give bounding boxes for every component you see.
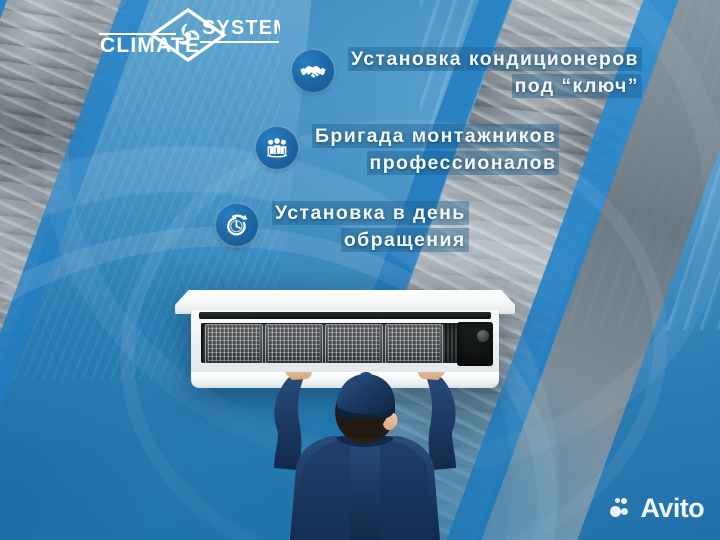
promo-poster: CLIMATE SYSTEMS Установка кондиционеров … xyxy=(0,0,720,540)
avito-dots-icon xyxy=(610,497,634,521)
feature-line-2: обращения xyxy=(341,228,469,252)
handshake-icon xyxy=(292,50,334,92)
brand-logo: CLIMATE SYSTEMS xyxy=(96,6,280,64)
feature-line-2: под “ключ” xyxy=(512,74,642,98)
feature-list: Установка кондиционеров под “ключ” xyxy=(0,46,720,277)
feature-line-2: профессионалов xyxy=(367,151,560,175)
feature-item-professional-team: Бригада монтажников профессионалов xyxy=(0,123,720,176)
ac-top-vent-slot xyxy=(199,312,491,319)
feature-text: Установка в день обращения xyxy=(272,200,469,253)
logo-text-climate: CLIMATE xyxy=(100,34,200,57)
feature-line-1: Бригада монтажников xyxy=(312,124,559,148)
feature-item-same-day-service: Установка в день обращения xyxy=(0,200,720,253)
ac-filter xyxy=(265,324,323,364)
feature-text: Бригада монтажников профессионалов xyxy=(312,123,559,176)
group-people-icon xyxy=(256,127,298,169)
ac-filter xyxy=(325,324,383,364)
clock-arrow-icon xyxy=(216,204,258,246)
ac-control-compartment xyxy=(457,322,493,366)
ac-filter xyxy=(385,324,443,364)
avito-watermark: Avito xyxy=(610,495,705,522)
technician-photo xyxy=(240,372,490,540)
logo-text-systems: SYSTEMS xyxy=(202,17,280,39)
feature-line-1: Установка кондиционеров xyxy=(348,47,642,71)
avito-wordmark: Avito xyxy=(641,495,705,522)
feature-text: Установка кондиционеров под “ключ” xyxy=(348,46,642,99)
ac-filter xyxy=(205,324,263,364)
feature-line-1: Установка в день xyxy=(272,201,469,225)
